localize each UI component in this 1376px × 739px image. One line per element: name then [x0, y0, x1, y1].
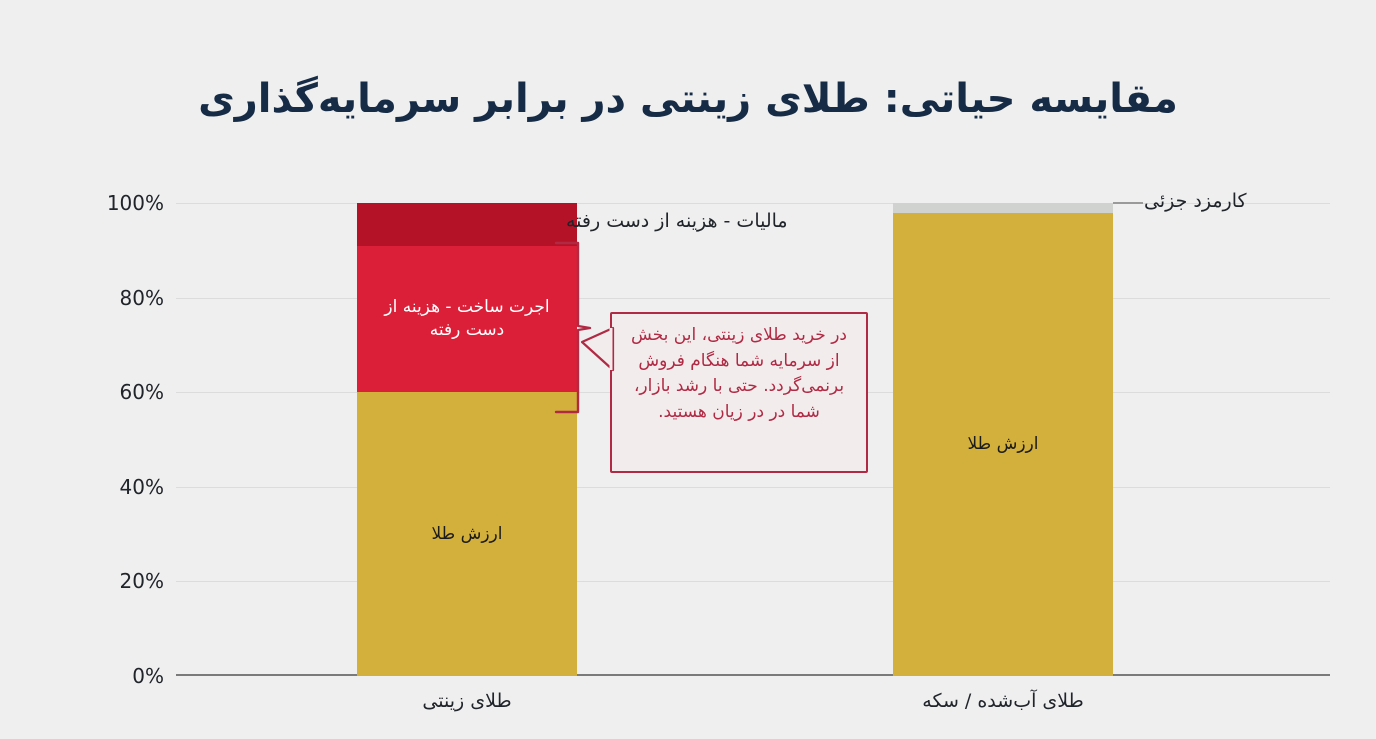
bar-ornamental-gold[interactable]: ارزش طلا اجرت ساخت - هزینه از دست رفته [357, 203, 577, 676]
y-axis: 100% 80% 60% 40% 20% 0% [92, 203, 164, 676]
chart-container: مقایسه حیاتی: طلای زینتی در برابر سرمایه… [0, 0, 1376, 739]
bar-segment-gold-value[interactable]: ارزش طلا [357, 392, 577, 676]
x-label-ornamental-gold: طلای زینتی [422, 690, 511, 712]
bar-segment-gold-value[interactable]: ارزش طلا [893, 213, 1113, 677]
bar-melted-gold-coin[interactable]: ارزش طلا [893, 203, 1113, 676]
gridline-40 [176, 487, 1330, 488]
y-tick-40: 40% [92, 475, 164, 499]
y-tick-100: 100% [92, 191, 164, 215]
bar-segment-label: اجرت ساخت - هزینه از دست رفته [370, 296, 565, 342]
chart-title: مقایسه حیاتی: طلای زینتی در برابر سرمایه… [0, 74, 1376, 124]
fee-annotation-label: کارمزد جزئی [1144, 190, 1247, 212]
fee-connector-line [1113, 202, 1143, 204]
axis-baseline [176, 674, 1330, 676]
gridline-80 [176, 298, 1330, 299]
x-label-melted-gold-coin: طلای آب‌شده / سکه [922, 690, 1083, 712]
bar-segment-making-charge[interactable]: اجرت ساخت - هزینه از دست رفته [357, 246, 577, 393]
gridline-20 [176, 581, 1330, 582]
callout-text: در خرید طلای زینتی، این بخش از سرمایه شم… [612, 314, 866, 471]
y-tick-60: 60% [92, 380, 164, 404]
callout-tail-icon [580, 326, 614, 372]
bar-segment-label: ارزش طلا [422, 523, 513, 546]
y-tick-80: 80% [92, 286, 164, 310]
bar-segment-label: ارزش طلا [958, 433, 1049, 456]
callout-box: در خرید طلای زینتی، این بخش از سرمایه شم… [610, 312, 868, 473]
y-tick-0: 0% [92, 664, 164, 688]
bar-segment-tax[interactable] [357, 203, 577, 246]
tax-annotation-label: مالیات - هزینه از دست رفته [566, 210, 788, 232]
y-tick-20: 20% [92, 569, 164, 593]
bar-segment-minor-fee[interactable] [893, 203, 1113, 213]
